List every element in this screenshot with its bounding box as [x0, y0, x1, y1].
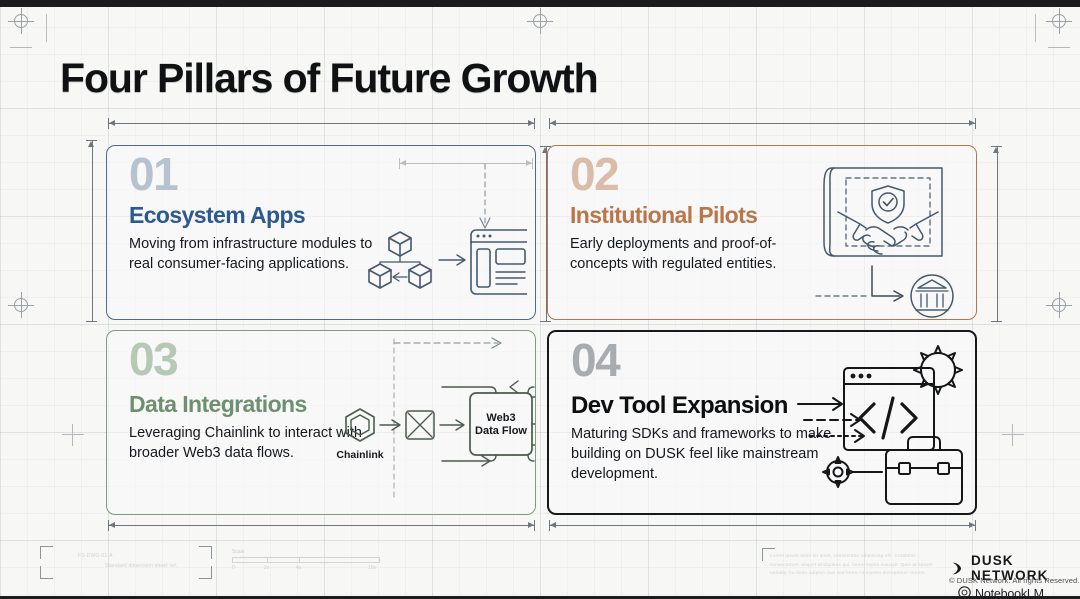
dimension-line-card1-width — [108, 117, 535, 129]
pillar-card-02[interactable]: 02 Institutional Pilots Early deployment… — [547, 145, 977, 320]
corner-mark-top-left — [40, 546, 53, 559]
margin-rule-left — [46, 14, 47, 42]
tick-left-bottom — [62, 434, 84, 435]
blueprint-scale-bar: Scale 0 2x 4x 10x — [232, 549, 387, 575]
copyright-text: © DUSK Network. All rights Reserved. — [949, 576, 1079, 585]
card-number: 03 — [129, 336, 177, 382]
registration-mark-top-right — [1046, 8, 1072, 34]
corner-mark-bottom-left — [40, 566, 53, 579]
tick-right-vert — [1012, 424, 1013, 446]
margin-rule-right — [1035, 14, 1036, 42]
blueprint-lorem-block: Lorem ipsum dolor sit amet, consectetur … — [770, 552, 945, 578]
corner-mark-bottom-right — [199, 566, 212, 579]
registration-mark-top-left — [8, 8, 34, 34]
blueprint-note-left: FS-DWG-01-A — [78, 553, 113, 561]
card-heading: Data Integrations — [129, 393, 307, 416]
corner-mark-lorem — [762, 548, 775, 561]
registration-mark-right-middle — [1046, 292, 1072, 318]
tick-right-bottom — [1002, 434, 1024, 435]
chainlink-label: Chainlink — [336, 449, 383, 461]
institutional-pilots-icon — [808, 146, 968, 319]
slide-canvas: Four Pillars of Future Growth 01 Ecosyst… — [0, 0, 1080, 599]
card-number: 04 — [571, 337, 619, 383]
scale-tick-1: 2x — [264, 565, 269, 571]
dimension-line-right-height — [991, 146, 1002, 322]
card-number: 01 — [129, 151, 177, 197]
card-heading: Dev Tool Expansion — [571, 394, 788, 418]
tick-right-top — [1048, 47, 1070, 48]
tick-left-top — [10, 47, 32, 48]
dimension-line-card4-bottom — [549, 519, 976, 531]
scale-tick-0: 0 — [232, 565, 235, 571]
tick-left-vert — [72, 424, 73, 446]
dimension-line-card3-bottom — [108, 519, 535, 531]
dev-tool-expansion-icon — [796, 332, 971, 513]
card-heading: Ecosystem Apps — [129, 204, 305, 227]
scale-tick-2: 4x — [296, 565, 301, 571]
card-heading: Institutional Pilots — [570, 204, 757, 227]
pillar-card-04[interactable]: 04 Dev Tool Expansion Maturing SDKs and … — [547, 330, 977, 515]
scale-tick-3: 10x — [368, 565, 376, 571]
ecosystem-apps-icon — [367, 146, 527, 319]
scale-label: Scale — [232, 549, 245, 555]
svg-text:Web3: Web3 — [486, 412, 515, 424]
registration-mark-left-middle — [8, 292, 34, 318]
letterbox-top — [0, 0, 1080, 7]
dimension-line-left-height — [86, 140, 97, 322]
blueprint-note-center: Standard dimension sheet ref. — [105, 563, 178, 571]
card-number: 02 — [570, 151, 618, 197]
pillar-card-01[interactable]: 01 Ecosystem Apps Moving from infrastruc… — [106, 145, 536, 320]
card-description: Moving from infrastructure modules to re… — [129, 234, 389, 274]
dimension-line-card2-width — [549, 117, 976, 129]
pillar-card-03[interactable]: 03 Data Integrations Leveraging Chainlin… — [106, 330, 536, 515]
page-title: Four Pillars of Future Growth — [60, 55, 598, 102]
corner-mark-top-right — [199, 546, 212, 559]
data-integrations-icon: Chainlink Web3 Data Flow — [322, 331, 536, 514]
dusk-crescent-logo-icon — [949, 561, 964, 576]
svg-text:Data Flow: Data Flow — [475, 425, 527, 437]
card-description: Early deployments and proof-of-concepts … — [570, 234, 820, 274]
registration-mark-top-center — [527, 8, 553, 34]
